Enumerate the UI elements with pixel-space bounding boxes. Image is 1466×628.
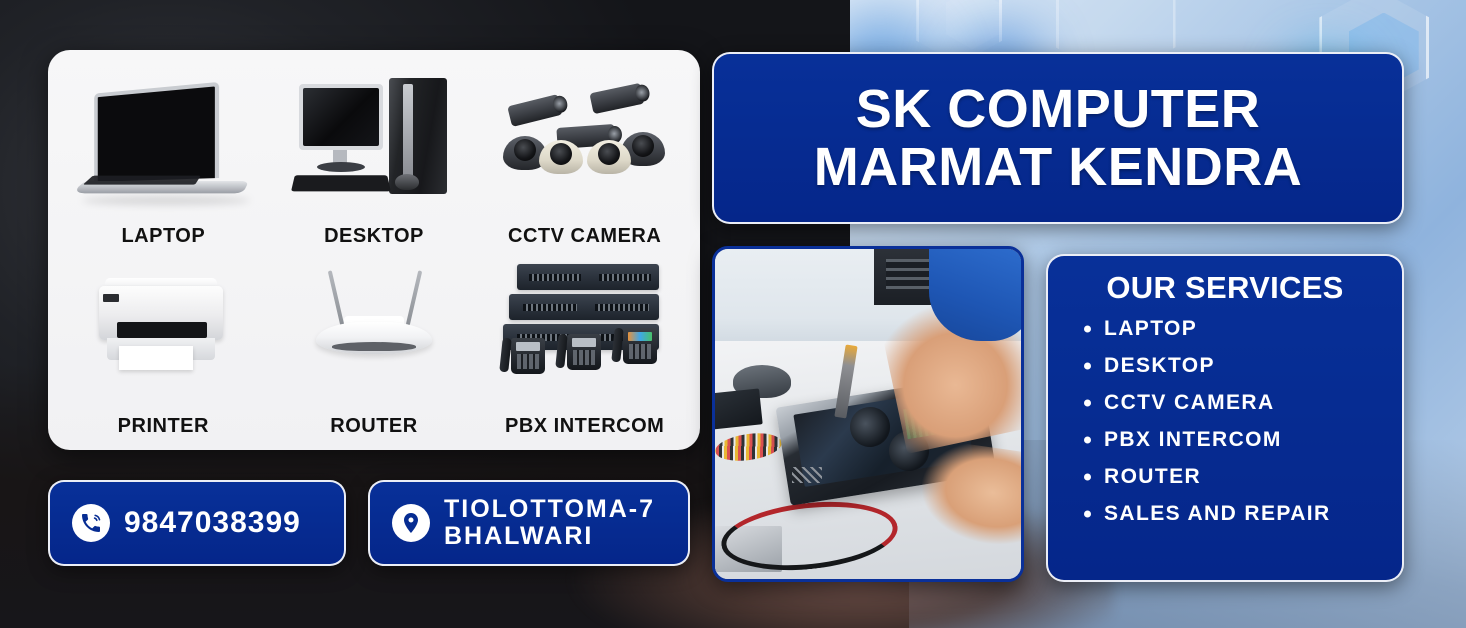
service-item[interactable]: PBX INTERCOM <box>1084 421 1384 458</box>
product-cell-pbx[interactable]: PBX INTERCOM <box>479 254 690 444</box>
address-chip[interactable]: TIOLOTTOMA-7 BHALWARI <box>368 480 690 566</box>
product-label: LAPTOP <box>121 225 205 254</box>
product-label: PRINTER <box>118 415 209 444</box>
contact-row: 9847038399 TIOLOTTOMA-7 BHALWARI <box>48 480 690 566</box>
product-cell-router[interactable]: ROUTER <box>269 254 480 444</box>
address-line-1: TIOLOTTOMA-7 <box>444 495 655 523</box>
brand-title-line-1: SK COMPUTER <box>856 80 1261 138</box>
laptop-icon <box>58 64 269 225</box>
brand-title-line-2: MARMAT KENDRA <box>814 138 1302 196</box>
brand-title-panel: SK COMPUTER MARMAT KENDRA <box>712 52 1404 224</box>
desktop-computer-icon <box>269 64 480 225</box>
product-cell-laptop[interactable]: LAPTOP <box>58 64 269 254</box>
service-item[interactable]: CCTV CAMERA <box>1084 384 1384 421</box>
product-label: CCTV CAMERA <box>508 225 661 254</box>
address-text: TIOLOTTOMA-7 BHALWARI <box>444 496 655 550</box>
services-panel: OUR SERVICES LAPTOP DESKTOP CCTV CAMERA … <box>1046 254 1404 582</box>
printer-icon <box>58 254 269 415</box>
location-pin-icon <box>392 504 430 542</box>
phone-number: 9847038399 <box>124 507 301 539</box>
address-line-2: BHALWARI <box>444 522 593 550</box>
phone-chip[interactable]: 9847038399 <box>48 480 346 566</box>
wifi-router-icon <box>269 254 480 415</box>
product-label: DESKTOP <box>324 225 424 254</box>
product-cell-printer[interactable]: PRINTER <box>58 254 269 444</box>
service-item[interactable]: LAPTOP <box>1084 310 1384 347</box>
product-grid-card: LAPTOP DESKTOP <box>48 50 700 450</box>
phone-call-icon <box>72 504 110 542</box>
pbx-intercom-icon <box>479 254 690 415</box>
cctv-camera-icon <box>479 64 690 225</box>
repair-photo <box>712 246 1024 582</box>
product-label: ROUTER <box>330 415 417 444</box>
product-cell-desktop[interactable]: DESKTOP <box>269 64 480 254</box>
services-heading: OUR SERVICES <box>1066 270 1384 306</box>
service-item[interactable]: ROUTER <box>1084 458 1384 495</box>
services-list: LAPTOP DESKTOP CCTV CAMERA PBX INTERCOM … <box>1066 310 1384 532</box>
product-grid: LAPTOP DESKTOP <box>58 64 690 444</box>
product-cell-cctv[interactable]: CCTV CAMERA <box>479 64 690 254</box>
service-item[interactable]: DESKTOP <box>1084 347 1384 384</box>
product-label: PBX INTERCOM <box>505 415 664 444</box>
service-item[interactable]: SALES AND REPAIR <box>1084 495 1384 532</box>
